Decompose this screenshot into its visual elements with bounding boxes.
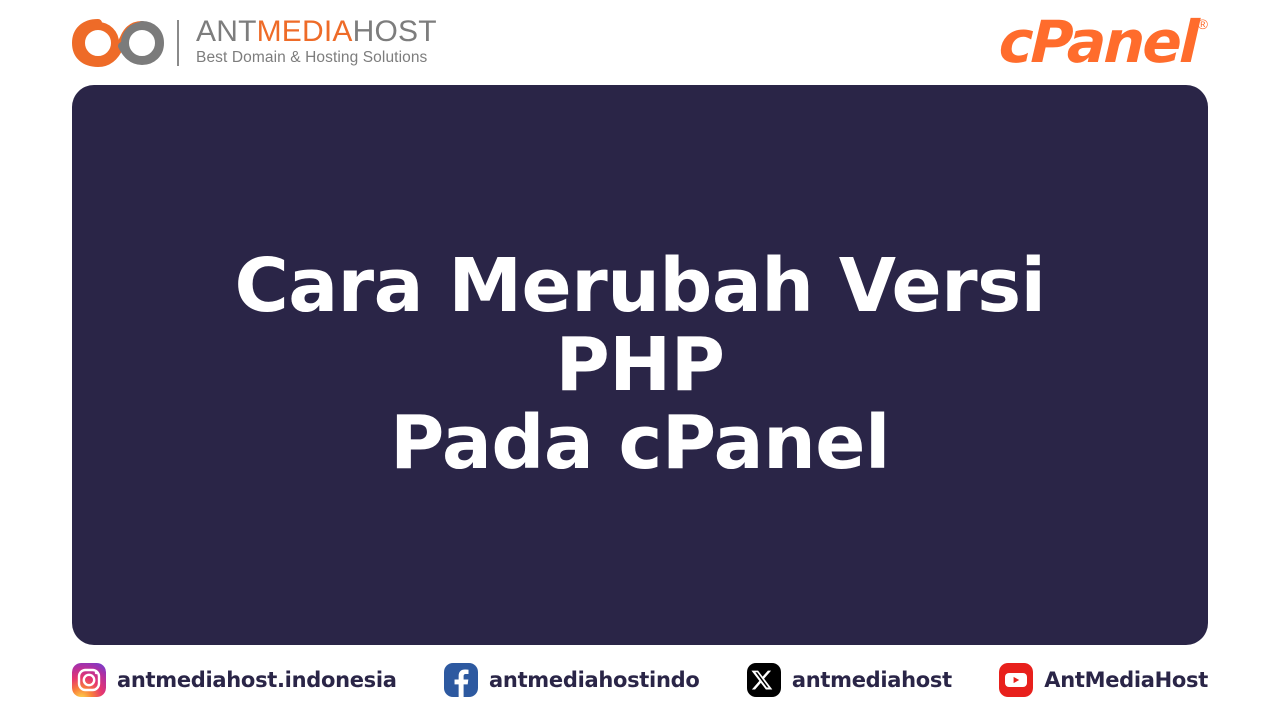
- brand-tagline: Best Domain & Hosting Solutions: [196, 49, 437, 68]
- page-header: ANTMEDIAHOST Best Domain & Hosting Solut…: [0, 0, 1280, 85]
- social-media-row: antmediahost.indonesia antmediahostindo …: [72, 655, 1208, 705]
- social-item-facebook[interactable]: antmediahostindo: [444, 663, 699, 697]
- wordmark-media: MEDIA: [257, 15, 353, 48]
- cpanel-wordmark: cPanel: [998, 13, 1198, 71]
- registered-trademark-icon: ®: [1198, 17, 1208, 31]
- social-handle-instagram: antmediahost.indonesia: [117, 670, 397, 691]
- facebook-icon[interactable]: [444, 663, 478, 697]
- brand-divider: [177, 20, 179, 66]
- page-title-line-2: Pada cPanel: [190, 404, 1090, 482]
- hero-card: Cara Merubah Versi PHP Pada cPanel: [72, 85, 1208, 645]
- social-item-instagram[interactable]: antmediahost.indonesia: [72, 663, 397, 697]
- infinity-loop-icon: [72, 15, 168, 71]
- brand-wordmark: ANTMEDIAHOST: [196, 17, 437, 48]
- page-title: Cara Merubah Versi PHP Pada cPanel: [190, 247, 1090, 482]
- x-twitter-icon[interactable]: [747, 663, 781, 697]
- social-handle-x-twitter: antmediahost: [792, 670, 952, 691]
- cpanel-logo: cPanel ®: [999, 13, 1208, 73]
- social-item-youtube[interactable]: AntMediaHost: [999, 663, 1208, 697]
- social-handle-youtube: AntMediaHost: [1044, 670, 1208, 691]
- social-item-x-twitter[interactable]: antmediahost: [747, 663, 952, 697]
- youtube-icon[interactable]: [999, 663, 1033, 697]
- wordmark-host: HOST: [353, 15, 437, 48]
- brand-text: ANTMEDIAHOST Best Domain & Hosting Solut…: [188, 17, 437, 67]
- brand-logo: ANTMEDIAHOST Best Domain & Hosting Solut…: [72, 15, 437, 71]
- social-handle-facebook: antmediahostindo: [489, 670, 699, 691]
- wordmark-ant: ANT: [196, 15, 257, 48]
- instagram-icon[interactable]: [72, 663, 106, 697]
- page-title-line-1: Cara Merubah Versi PHP: [190, 247, 1090, 404]
